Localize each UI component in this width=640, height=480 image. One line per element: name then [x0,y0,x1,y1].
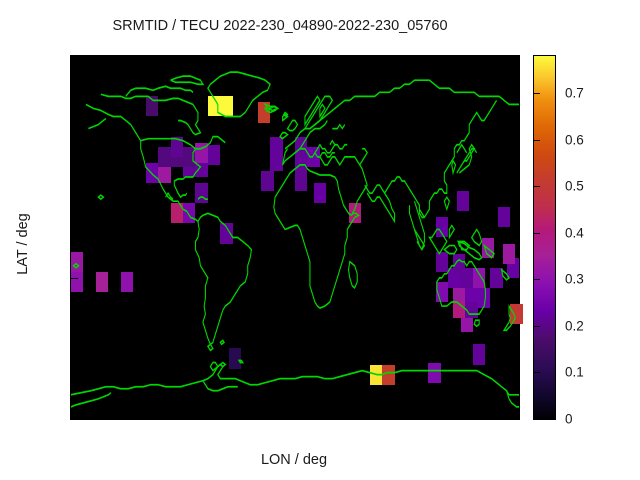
heatmap-cell [473,268,485,288]
colorbar-tick [534,186,540,187]
heatmap-cell [220,223,232,243]
y-tick [71,197,78,198]
y-tick [71,238,78,239]
y-tick [71,117,78,118]
heatmap-cell [146,96,158,116]
x-tick [233,412,234,419]
colorbar-tick-label: 0.7 [565,86,584,101]
y-tick [71,359,78,360]
colorbar: 00.10.20.30.40.50.60.7 [533,55,556,420]
x-tick [357,412,358,419]
colorbar-tick-label: 0.2 [565,318,584,333]
colorbar-tick [534,140,540,141]
page-title: SRMTID / TECU 2022-230_04890-2022-230_05… [0,18,560,34]
heatmap-cell [270,137,282,157]
map-axes: 806040200-20-40-60-80-150-100-5005010015… [70,55,520,420]
x-axis-title: LON / deg [70,452,518,468]
colorbar-tick-label: 0.5 [565,179,584,194]
y-tick [71,399,78,400]
heatmap-cell [349,203,361,223]
heatmap-cell [428,363,440,383]
plot-window: SRMTID / TECU 2022-230_04890-2022-230_05… [0,0,640,480]
colorbar-tick-label: 0 [565,412,573,427]
heatmap-cell [370,365,382,385]
heatmap-cell [436,217,448,237]
heatmap-cell [307,147,319,167]
heatmap-cell [473,344,485,364]
heatmap-cell [195,143,207,163]
colorbar-tick-label: 0.4 [565,225,584,240]
heatmap-cell [436,282,448,302]
heatmap-cell [295,137,307,157]
heatmap-cell-layer [71,56,519,419]
x-tick [108,412,109,419]
y-tick [71,76,78,77]
colorbar-tick [534,326,540,327]
heatmap-cell [229,348,241,368]
heatmap-cell [482,238,494,258]
heatmap-cell [158,147,170,167]
heatmap-cell [208,145,220,165]
heatmap-cell [314,183,326,203]
colorbar-tick [534,419,540,420]
heatmap-cell [478,288,490,308]
x-tick [482,412,483,419]
y-axis-title: LAT / deg [15,174,31,314]
heatmap-cell [490,268,502,288]
colorbar-tick [534,233,540,234]
heatmap-cell [261,171,273,191]
heatmap-cell [183,147,195,167]
heatmap-cell [208,96,220,116]
colorbar-tick [534,279,540,280]
heatmap-cell [171,203,183,223]
x-tick [419,412,420,419]
heatmap-cell [436,252,448,272]
heatmap-cell [146,163,158,183]
heatmap-cell [382,365,394,385]
x-tick [295,412,296,419]
heatmap-cell [457,191,469,211]
y-tick [71,318,78,319]
heatmap-cell [96,272,108,292]
x-tick [171,412,172,419]
heatmap-cell [183,203,195,223]
y-tick [71,157,78,158]
heatmap-cell [171,137,183,157]
heatmap-cell [503,244,515,264]
heatmap-cell [71,272,83,292]
heatmap-cell [453,254,465,274]
heatmap-cell [498,207,510,227]
colorbar-tick-label: 0.1 [565,365,584,380]
y-tick [71,278,78,279]
colorbar-tick [534,93,540,94]
colorbar-tick [534,372,540,373]
colorbar-tick-label: 0.6 [565,132,584,147]
heatmap-cell [220,96,232,116]
heatmap-cell [71,252,83,272]
heatmap-cell [121,272,133,292]
heatmap-cell [295,171,307,191]
heatmap-cell [510,304,522,324]
colorbar-tick-label: 0.3 [565,272,584,287]
heatmap-cell [195,183,207,203]
heatmap-cell [258,102,270,122]
